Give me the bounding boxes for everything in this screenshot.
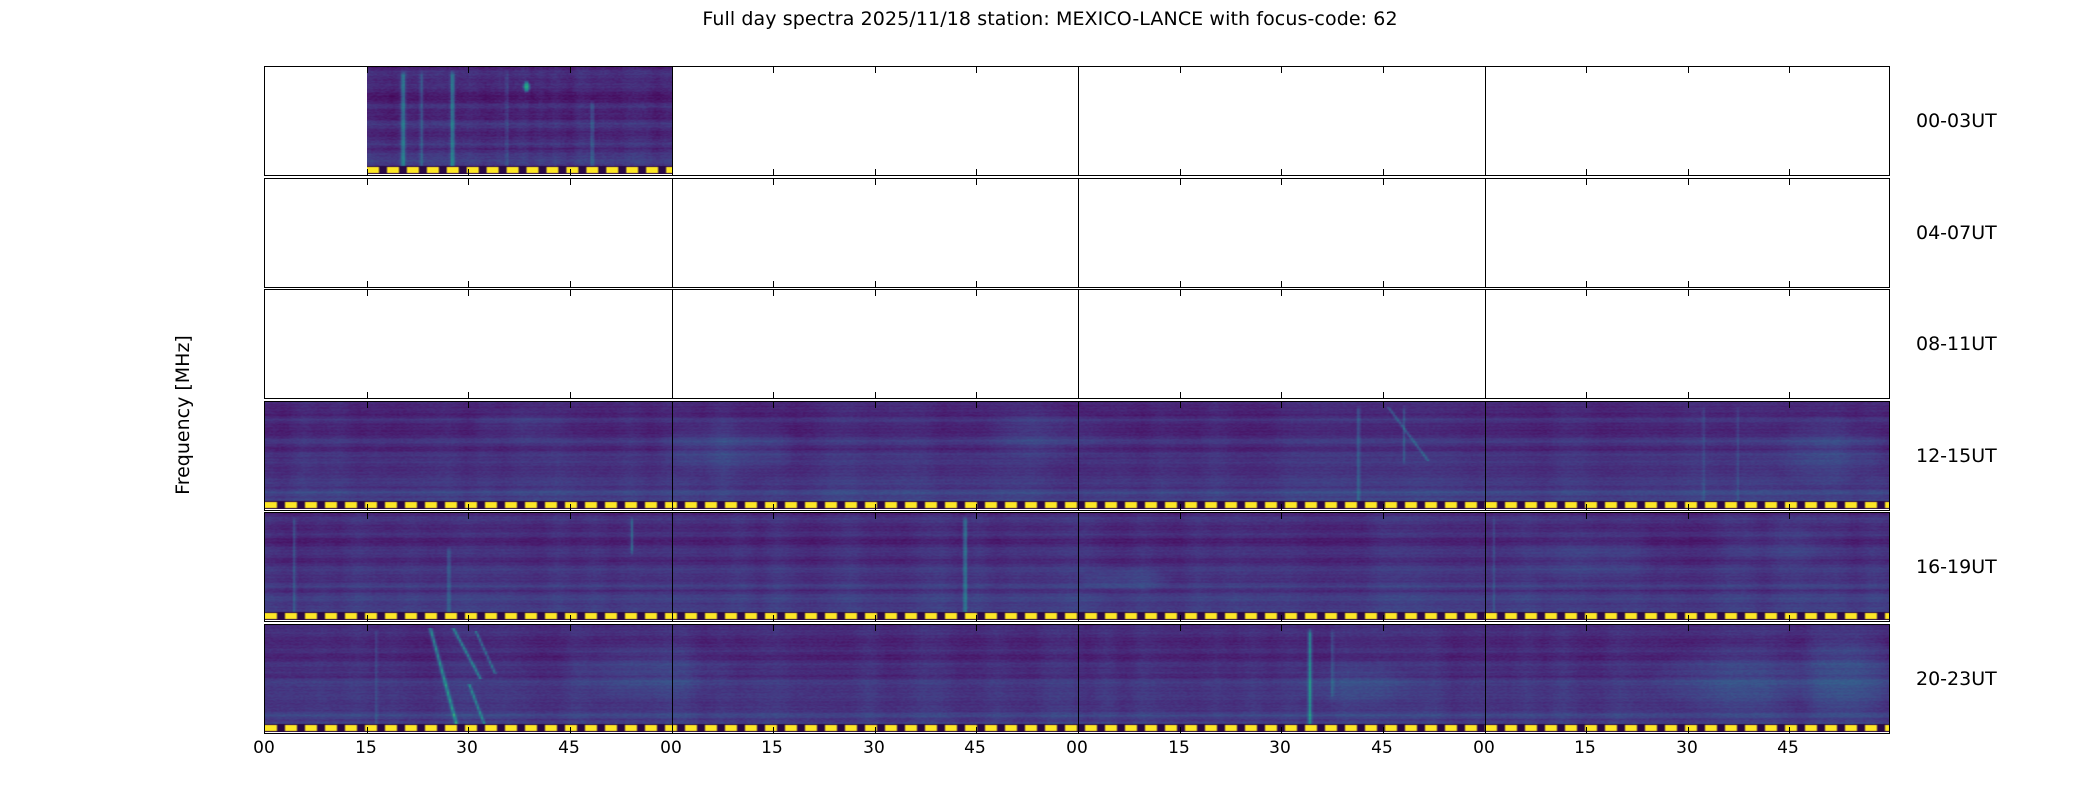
x-tick-top <box>367 402 368 408</box>
x-tick-top <box>1180 290 1181 296</box>
x-tick-top <box>875 290 876 296</box>
x-tick-bottom <box>1180 504 1181 510</box>
x-tick-top <box>773 290 774 296</box>
hour-divider <box>672 625 673 733</box>
x-axis-tick-label: 15 <box>1168 738 1190 758</box>
x-axis-tick-label: 15 <box>1574 738 1596 758</box>
y-tick <box>264 583 265 584</box>
y-tick-right <box>1889 533 1890 534</box>
x-tick-bottom <box>1180 615 1181 621</box>
hour-divider <box>1078 625 1079 733</box>
x-tick-bottom <box>468 281 469 287</box>
x-tick-bottom <box>1688 392 1689 398</box>
x-tick-top <box>570 513 571 519</box>
x-tick-top <box>773 67 774 73</box>
spectrogram-row-08-11ut: 8060 <box>264 289 1890 399</box>
x-tick-bottom <box>773 727 774 733</box>
y-tick <box>264 422 265 423</box>
x-tick-top <box>1383 179 1384 185</box>
x-tick-bottom <box>773 504 774 510</box>
x-tick-top <box>1281 625 1282 631</box>
y-tick <box>264 645 265 646</box>
x-tick-top <box>1789 513 1790 519</box>
spectrogram-row-00-03ut: 8060 <box>264 66 1890 176</box>
hour-divider <box>1485 625 1486 733</box>
x-tick-top <box>367 625 368 631</box>
spectrogram-canvas <box>367 67 672 174</box>
hour-divider <box>1485 179 1486 287</box>
hour-divider <box>672 67 673 175</box>
x-tick-top <box>1281 402 1282 408</box>
x-tick-top <box>1180 513 1181 519</box>
x-tick-bottom <box>1281 615 1282 621</box>
x-axis-tick-label: 00 <box>660 738 682 758</box>
x-axis-tick-label: 00 <box>1473 738 1495 758</box>
x-tick-bottom <box>1789 169 1790 175</box>
row-label-12-15ut: 12-15UT <box>1916 445 1997 467</box>
x-tick-top <box>468 513 469 519</box>
x-tick-bottom <box>1586 504 1587 510</box>
x-tick-bottom <box>1789 727 1790 733</box>
x-tick-top <box>1586 513 1587 519</box>
x-tick-top <box>1586 402 1587 408</box>
x-tick-top <box>570 402 571 408</box>
y-tick-right <box>1889 87 1890 88</box>
y-tick <box>264 472 265 473</box>
x-tick-bottom <box>468 727 469 733</box>
x-tick-bottom <box>1586 727 1587 733</box>
x-tick-bottom <box>773 169 774 175</box>
x-tick-top <box>570 290 571 296</box>
x-tick-top <box>1383 290 1384 296</box>
x-tick-bottom <box>367 169 368 175</box>
x-tick-top <box>1180 402 1181 408</box>
x-axis-tick-label: 45 <box>1371 738 1393 758</box>
x-tick-top <box>570 179 571 185</box>
x-tick-bottom <box>1180 281 1181 287</box>
x-tick-bottom <box>367 615 368 621</box>
x-tick-bottom <box>468 504 469 510</box>
x-tick-top <box>468 179 469 185</box>
x-tick-top <box>1180 625 1181 631</box>
x-tick-bottom <box>1383 615 1384 621</box>
x-axis-tick-label: 15 <box>355 738 377 758</box>
y-tick-right <box>1889 360 1890 361</box>
y-tick <box>264 87 265 88</box>
x-tick-bottom <box>773 615 774 621</box>
row-label-16-19ut: 16-19UT <box>1916 556 1997 578</box>
y-tick-right <box>1889 472 1890 473</box>
x-tick-bottom <box>875 281 876 287</box>
x-tick-top <box>1789 67 1790 73</box>
x-tick-top <box>1281 513 1282 519</box>
y-tick <box>264 137 265 138</box>
x-tick-bottom <box>773 392 774 398</box>
x-tick-top <box>1688 402 1689 408</box>
x-tick-bottom <box>570 615 571 621</box>
x-tick-bottom <box>1281 169 1282 175</box>
x-tick-bottom <box>1383 281 1384 287</box>
x-tick-bottom <box>773 281 774 287</box>
hour-divider <box>1078 67 1079 175</box>
x-axis-tick-label: 30 <box>863 738 885 758</box>
hour-divider <box>1485 513 1486 621</box>
x-tick-bottom <box>976 281 977 287</box>
x-tick-bottom <box>1586 281 1587 287</box>
x-tick-bottom <box>1789 504 1790 510</box>
x-tick-bottom <box>1586 169 1587 175</box>
x-tick-bottom <box>1789 615 1790 621</box>
y-tick-right <box>1889 583 1890 584</box>
x-tick-top <box>367 67 368 73</box>
x-tick-top <box>1281 290 1282 296</box>
spectrogram-row-12-15ut: 8060 <box>264 401 1890 511</box>
x-tick-top <box>1383 625 1384 631</box>
hour-divider <box>1485 402 1486 510</box>
x-tick-bottom <box>1688 615 1689 621</box>
x-tick-top <box>875 513 876 519</box>
x-axis-tick-label: 45 <box>558 738 580 758</box>
x-tick-bottom <box>1688 504 1689 510</box>
x-axis-tick-labels: 00153045001530450015304500153045 <box>264 738 1890 762</box>
x-axis-tick-label: 15 <box>761 738 783 758</box>
x-tick-top <box>773 625 774 631</box>
x-tick-top <box>367 290 368 296</box>
x-tick-top <box>1688 67 1689 73</box>
x-tick-top <box>773 179 774 185</box>
x-tick-bottom <box>367 281 368 287</box>
x-tick-bottom <box>1383 727 1384 733</box>
x-tick-bottom <box>1180 392 1181 398</box>
x-tick-bottom <box>1383 392 1384 398</box>
x-tick-top <box>875 179 876 185</box>
x-tick-bottom <box>1383 504 1384 510</box>
x-tick-top <box>976 179 977 185</box>
x-tick-bottom <box>1383 169 1384 175</box>
x-tick-bottom <box>1281 392 1282 398</box>
x-tick-bottom <box>468 392 469 398</box>
x-tick-top <box>468 625 469 631</box>
x-tick-top <box>1688 625 1689 631</box>
x-tick-bottom <box>468 169 469 175</box>
x-tick-bottom <box>367 727 368 733</box>
x-axis-tick-label: 45 <box>1777 738 1799 758</box>
x-tick-top <box>1688 179 1689 185</box>
x-tick-top <box>1586 625 1587 631</box>
y-tick-right <box>1889 695 1890 696</box>
y-tick <box>264 360 265 361</box>
x-tick-top <box>1789 290 1790 296</box>
hour-divider <box>672 179 673 287</box>
x-tick-bottom <box>875 169 876 175</box>
x-axis-tick-label: 45 <box>964 738 986 758</box>
y-axis-label: Frequency [MHz] <box>172 335 194 495</box>
x-tick-top <box>1281 67 1282 73</box>
y-tick <box>264 199 265 200</box>
y-tick-right <box>1889 645 1890 646</box>
x-tick-top <box>1180 179 1181 185</box>
x-tick-top <box>1789 625 1790 631</box>
x-tick-bottom <box>1281 281 1282 287</box>
hour-divider <box>1078 513 1079 621</box>
x-tick-top <box>976 402 977 408</box>
x-tick-bottom <box>570 392 571 398</box>
x-tick-top <box>976 290 977 296</box>
x-tick-bottom <box>875 392 876 398</box>
y-tick <box>264 310 265 311</box>
y-tick-right <box>1889 422 1890 423</box>
row-label-20-23ut: 20-23UT <box>1916 668 1997 690</box>
x-tick-top <box>468 67 469 73</box>
hour-divider <box>672 290 673 398</box>
y-tick-right <box>1889 137 1890 138</box>
x-tick-top <box>976 513 977 519</box>
x-tick-bottom <box>976 727 977 733</box>
x-tick-bottom <box>570 504 571 510</box>
x-tick-bottom <box>1180 727 1181 733</box>
hour-divider <box>1485 67 1486 175</box>
page-title: Full day spectra 2025/11/18 station: MEX… <box>0 8 2100 30</box>
x-tick-top <box>773 402 774 408</box>
x-tick-bottom <box>875 504 876 510</box>
y-tick-right <box>1889 310 1890 311</box>
y-tick-right <box>1889 249 1890 250</box>
x-tick-bottom <box>1180 169 1181 175</box>
x-tick-top <box>468 402 469 408</box>
spectrogram-row-16-19ut: 8060 <box>264 512 1890 622</box>
x-tick-bottom <box>976 392 977 398</box>
x-tick-top <box>976 625 977 631</box>
x-axis-tick-label: 00 <box>1066 738 1088 758</box>
x-tick-top <box>1688 290 1689 296</box>
x-tick-top <box>468 290 469 296</box>
y-tick-right <box>1889 199 1890 200</box>
hour-divider <box>1078 290 1079 398</box>
x-tick-top <box>1383 67 1384 73</box>
x-tick-bottom <box>570 169 571 175</box>
hour-divider <box>1485 290 1486 398</box>
x-tick-top <box>1383 513 1384 519</box>
x-tick-top <box>976 67 977 73</box>
x-tick-top <box>367 179 368 185</box>
x-tick-bottom <box>570 727 571 733</box>
hour-divider <box>672 402 673 510</box>
row-label-08-11ut: 08-11UT <box>1916 333 1997 355</box>
x-tick-top <box>1586 67 1587 73</box>
x-tick-bottom <box>367 392 368 398</box>
y-tick <box>264 249 265 250</box>
hour-divider <box>672 513 673 621</box>
x-tick-top <box>1180 67 1181 73</box>
x-tick-top <box>875 402 876 408</box>
x-tick-top <box>875 625 876 631</box>
x-tick-top <box>1789 179 1790 185</box>
hour-divider <box>1078 179 1079 287</box>
x-tick-top <box>367 513 368 519</box>
spectrogram-row-20-23ut: 8060 <box>264 624 1890 734</box>
x-tick-bottom <box>1281 504 1282 510</box>
x-tick-bottom <box>875 615 876 621</box>
x-tick-bottom <box>875 727 876 733</box>
spectrogram-data-region <box>367 67 672 175</box>
x-tick-top <box>1383 402 1384 408</box>
x-axis-tick-label: 30 <box>1269 738 1291 758</box>
x-tick-bottom <box>976 504 977 510</box>
x-tick-bottom <box>976 615 977 621</box>
x-tick-top <box>570 625 571 631</box>
x-tick-bottom <box>1789 281 1790 287</box>
x-tick-top <box>875 67 876 73</box>
x-tick-bottom <box>570 281 571 287</box>
x-tick-bottom <box>1281 727 1282 733</box>
x-tick-bottom <box>976 169 977 175</box>
x-tick-bottom <box>1586 615 1587 621</box>
x-tick-top <box>570 67 571 73</box>
row-label-00-03ut: 00-03UT <box>1916 110 1997 132</box>
x-axis-tick-label: 30 <box>1676 738 1698 758</box>
x-tick-top <box>1586 290 1587 296</box>
x-tick-bottom <box>468 615 469 621</box>
x-tick-bottom <box>1688 727 1689 733</box>
x-axis-tick-label: 00 <box>253 738 275 758</box>
spectrogram-row-04-07ut: 8060 <box>264 178 1890 288</box>
x-tick-top <box>1688 513 1689 519</box>
hour-divider <box>1078 402 1079 510</box>
spectrogram-figure: Full day spectra 2025/11/18 station: MEX… <box>0 0 2100 800</box>
row-label-04-07ut: 04-07UT <box>1916 222 1997 244</box>
x-tick-bottom <box>367 504 368 510</box>
x-tick-bottom <box>1688 281 1689 287</box>
x-tick-top <box>1586 179 1587 185</box>
x-tick-top <box>1281 179 1282 185</box>
x-tick-bottom <box>1789 392 1790 398</box>
x-tick-bottom <box>1586 392 1587 398</box>
x-tick-top <box>773 513 774 519</box>
y-tick <box>264 695 265 696</box>
x-tick-top <box>1789 402 1790 408</box>
x-tick-bottom <box>1688 169 1689 175</box>
x-axis-tick-label: 30 <box>456 738 478 758</box>
y-tick <box>264 533 265 534</box>
